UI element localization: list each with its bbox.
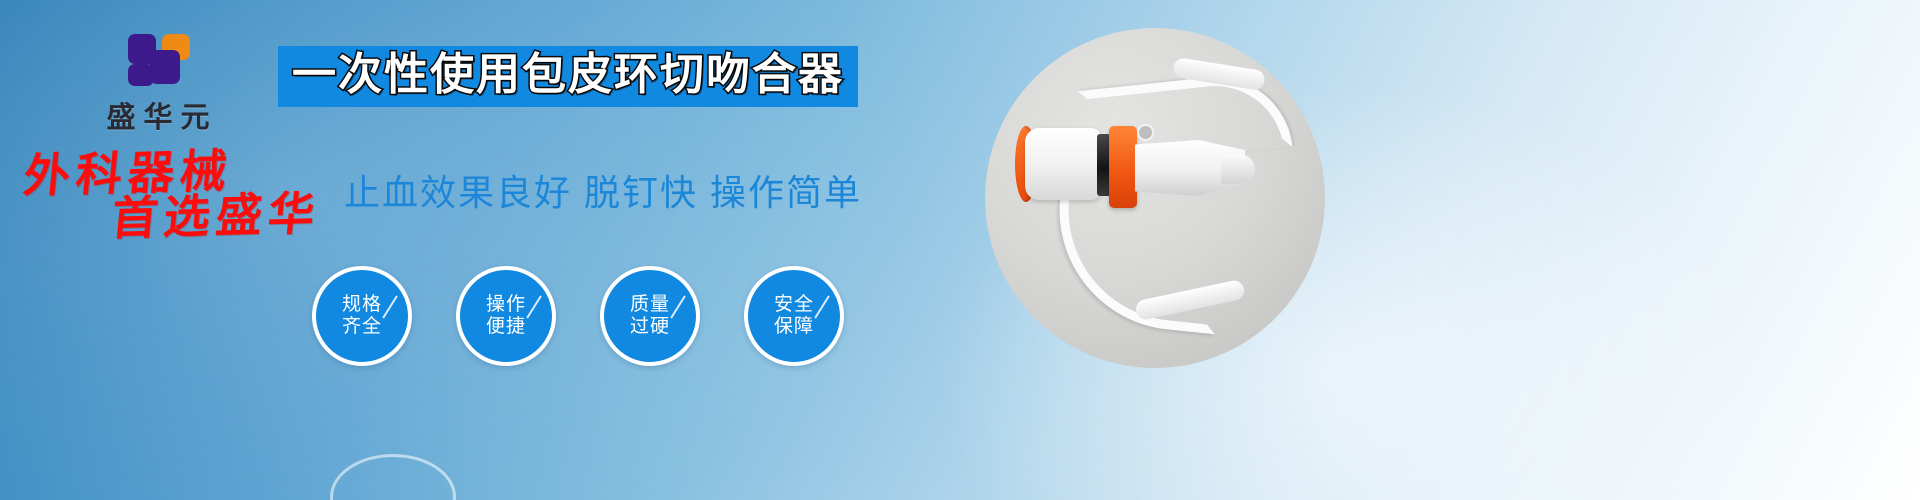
feature-badge-line2: 便捷 [486,316,526,338]
logo-square-notch [150,56,162,68]
feature-badge-line1: 安全 [774,294,814,316]
stapler-tip [1221,154,1255,184]
product-image [985,28,1325,368]
feature-badge-line1: 规格 [342,294,382,316]
bottom-arc-decoration [330,454,456,500]
circumcision-stapler-illustration [985,28,1325,368]
logo-wordmark: 盛华元 [64,94,254,136]
feature-badge[interactable]: 安全 保障 [744,266,844,366]
calligraphy-slogan: 外科器械 首选盛华 [17,144,327,245]
slash-decoration-icon [670,295,685,318]
headline-band: 一次性使用包皮环切吻合器 [278,46,858,107]
slash-decoration-icon [814,295,829,318]
feature-badge-list: 规格 齐全 操作 便捷 质量 过硬 安全 保障 [312,266,844,366]
subtitle-text: 止血效果良好 脱钉快 操作简单 [344,164,862,216]
logo-mark-icon [128,26,190,88]
promo-banner: 盛华元 外科器械 首选盛华 一次性使用包皮环切吻合器 止血效果良好 脱钉快 操作… [0,0,1920,500]
feature-badge-line2: 齐全 [342,316,382,338]
stapler-orange-block [1109,126,1137,208]
feature-badge-line1: 操作 [486,294,526,316]
slash-decoration-icon [526,295,541,318]
feature-badge-line2: 保障 [774,316,814,338]
feature-badge[interactable]: 规格 齐全 [312,266,412,366]
stapler-body [1025,128,1101,200]
feature-badge[interactable]: 操作 便捷 [456,266,556,366]
feature-badge-line2: 过硬 [630,316,670,338]
headline-text: 一次性使用包皮环切吻合器 [292,53,844,97]
calligraphy-slogan-line2: 首选盛华 [109,189,322,243]
feature-badge-line1: 质量 [630,294,670,316]
slash-decoration-icon [382,295,397,318]
brand-logo[interactable]: 盛华元 [64,26,254,136]
stapler-pivot [1137,124,1154,141]
feature-badge[interactable]: 质量 过硬 [600,266,700,366]
